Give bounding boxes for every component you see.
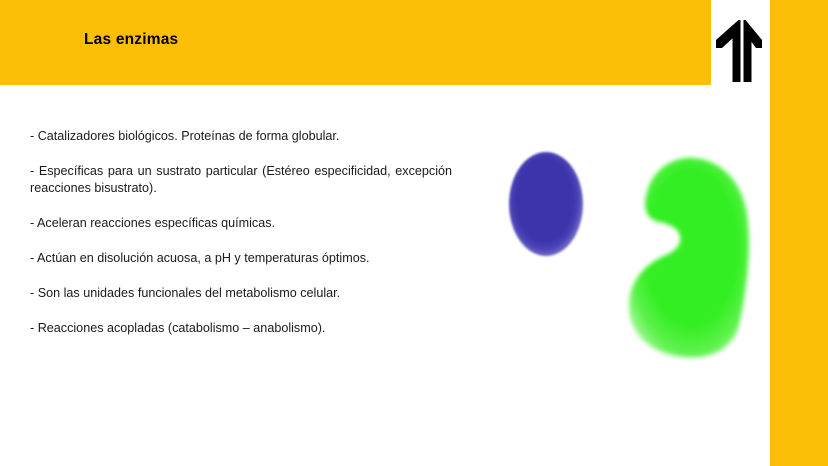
list-item: - Son las unidades funcionales del metab… <box>30 285 452 302</box>
list-item: - Específicas para un sustrato particula… <box>30 163 452 197</box>
slide-root: Las enzimas - Catalizadores biológicos. … <box>0 0 828 466</box>
bullet-list: - Catalizadores biológicos. Proteínas de… <box>30 128 452 337</box>
page-title: Las enzimas <box>84 30 178 50</box>
substrate-label: Elipse azul difuminada que representa el… <box>509 152 510 153</box>
right-accent-column <box>770 85 828 466</box>
substrate-ellipse-graphic: Elipse azul difuminada que representa el… <box>509 152 583 256</box>
list-item: - Actúan en disolución acuosa, a pH y te… <box>30 250 452 267</box>
list-item: - Reacciones acopladas (catabolismo – an… <box>30 320 452 337</box>
double-up-arrow-logo-icon <box>714 18 770 82</box>
list-item: - Catalizadores biológicos. Proteínas de… <box>30 128 452 145</box>
enzyme-label: Forma verde arriñonada que representa la… <box>620 362 621 363</box>
enzyme-blob-graphic: Forma verde arriñonada que representa la… <box>620 152 760 362</box>
list-item: - Aceleran reacciones específicas químic… <box>30 215 452 232</box>
